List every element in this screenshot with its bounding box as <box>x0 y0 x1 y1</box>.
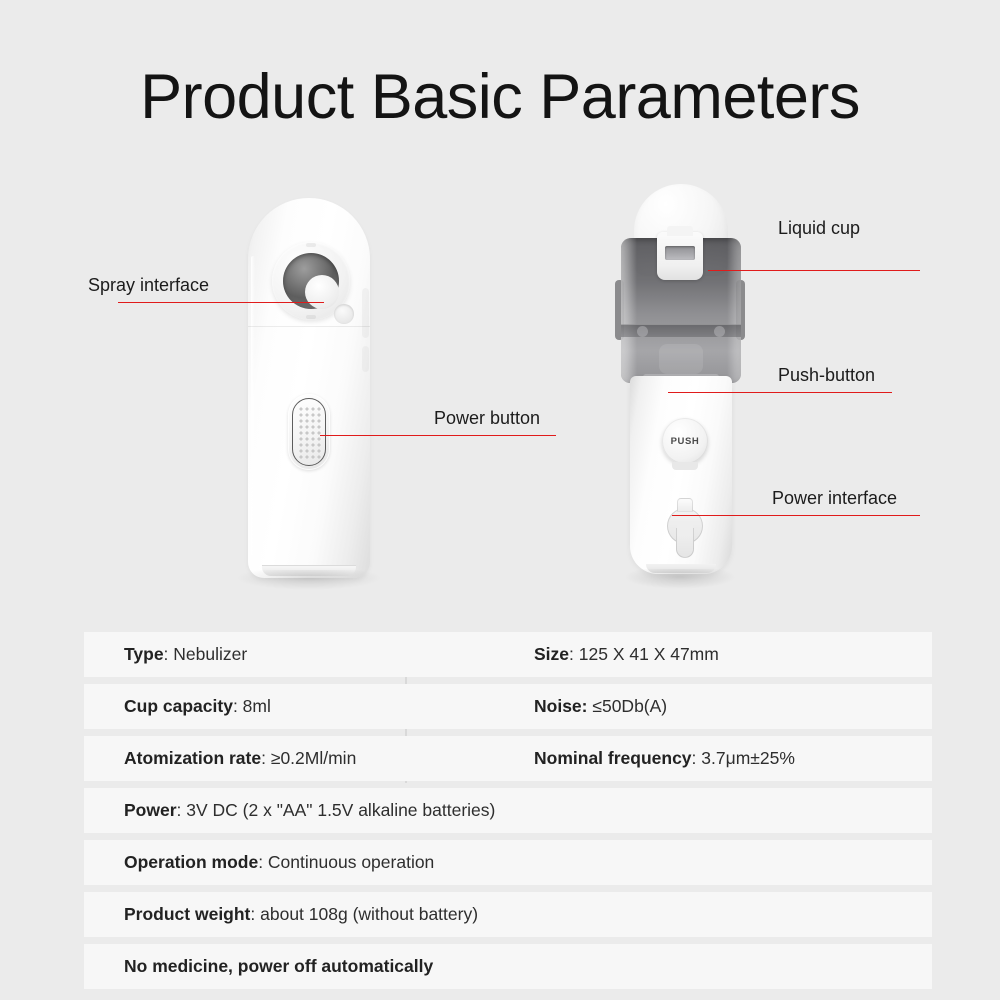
power-port-tip <box>677 498 693 512</box>
cup-latch <box>657 232 703 280</box>
callout-label-power-button: Power button <box>434 408 540 429</box>
spec-cell: No medicine, power off automatically <box>84 956 932 977</box>
spec-cell: Noise: ≤50Db(A) <box>490 696 932 717</box>
callout-line-power-interface <box>672 515 920 516</box>
spec-value: 3V DC (2 x "AA" 1.5V alkaline batteries) <box>186 800 495 820</box>
table-row: No medicine, power off automatically <box>84 944 932 989</box>
spec-key: Atomization rate <box>124 748 261 768</box>
latch-slot <box>665 246 695 260</box>
nozzle-center <box>334 304 354 324</box>
spec-cell: Atomization rate: ≥0.2Ml/min <box>84 748 490 769</box>
nozzle-ring-light <box>305 275 339 309</box>
callout-line-spray-interface <box>118 302 324 303</box>
spec-value: Continuous operation <box>268 852 434 872</box>
callout-label-push-button: Push-button <box>778 365 875 386</box>
spec-sep: : <box>258 852 268 872</box>
callout-line-power-button <box>320 435 556 436</box>
push-button-control[interactable]: PUSH <box>662 418 708 464</box>
table-row: Type: Nebulizer Size: 125 X 41 X 47mm <box>84 632 932 677</box>
left-edge-highlight <box>251 256 255 556</box>
right-edge-groove <box>362 288 369 338</box>
callout-line-liquid-cup <box>708 270 920 271</box>
table-row: Product weight: about 108g (without batt… <box>84 892 932 937</box>
push-button-label: PUSH <box>671 436 700 447</box>
spec-cell: Nominal frequency: 3.7μm±25% <box>490 748 932 769</box>
table-row: Operation mode: Continuous operation <box>84 840 932 885</box>
spec-value: Nebulizer <box>173 644 247 664</box>
table-row: Power: 3V DC (2 x "AA" 1.5V alkaline bat… <box>84 788 932 833</box>
spec-key: Type <box>124 644 164 664</box>
spec-sep: : <box>233 696 243 716</box>
power-interface-port <box>663 502 707 560</box>
callout-label-spray-interface: Spray interface <box>88 275 209 296</box>
spec-key: No medicine, power off automatically <box>124 956 433 976</box>
spec-cell: Size: 125 X 41 X 47mm <box>490 644 932 665</box>
latch-tab <box>667 226 693 236</box>
cup-knob-right <box>714 326 725 337</box>
table-row: Cup capacity: 8ml Noise: ≤50Db(A) <box>84 684 932 729</box>
nozzle-ring-dark <box>283 253 339 309</box>
power-port-stem-fill <box>677 524 693 536</box>
device-body: PUSH <box>630 376 732 574</box>
spec-sep: : <box>569 644 579 664</box>
nebulizer-front-view <box>248 198 370 578</box>
spec-cell: Type: Nebulizer <box>84 644 490 665</box>
body-seam <box>248 326 370 327</box>
spec-value: ≤50Db(A) <box>592 696 667 716</box>
spec-value: 3.7μm±25% <box>701 748 795 768</box>
device-shadow <box>236 570 382 590</box>
spec-key: Power <box>124 800 177 820</box>
nebulizer-side-view: PUSH <box>612 184 748 579</box>
product-illustration-stage: PUSH Spray interface Power button <box>0 170 1000 620</box>
nozzle-notch-bottom <box>306 315 316 319</box>
spec-sep: : <box>250 904 260 924</box>
cup-knob-left <box>637 326 648 337</box>
spec-sep: : <box>692 748 702 768</box>
cup-gloss-right <box>727 238 741 383</box>
nozzle-notch-top <box>306 243 316 247</box>
spray-nozzle-icon <box>272 242 350 320</box>
callout-line-push-button <box>668 392 892 393</box>
cup-gloss-left <box>621 238 637 383</box>
cup-inner-part <box>659 344 703 374</box>
push-button-shaft <box>672 462 698 470</box>
spec-key: Product weight <box>124 904 250 924</box>
power-button-control[interactable] <box>288 394 330 470</box>
spec-key: Operation mode <box>124 852 258 872</box>
page-title: Product Basic Parameters <box>0 66 1000 129</box>
spec-table: Type: Nebulizer Size: 125 X 41 X 47mm Cu… <box>84 632 932 989</box>
spec-key: Cup capacity <box>124 696 233 716</box>
spec-sep: : <box>261 748 271 768</box>
spec-cell: Cup capacity: 8ml <box>84 696 490 717</box>
product-spec-page: Product Basic Parameters <box>0 0 1000 1000</box>
spec-key: Size <box>534 644 569 664</box>
callout-label-power-interface: Power interface <box>772 488 897 509</box>
spec-key: Nominal frequency <box>534 748 692 768</box>
spec-value: 125 X 41 X 47mm <box>579 644 719 664</box>
spec-cell: Operation mode: Continuous operation <box>84 852 932 873</box>
spec-value: about 108g (without battery) <box>260 904 478 924</box>
table-row: Atomization rate: ≥0.2Ml/min Nominal fre… <box>84 736 932 781</box>
spec-cell: Power: 3V DC (2 x "AA" 1.5V alkaline bat… <box>84 800 932 821</box>
right-edge-groove-lower <box>362 346 369 372</box>
spec-key: Noise: <box>534 696 587 716</box>
device-shadow <box>624 569 736 589</box>
power-button-texture <box>297 405 321 459</box>
spec-sep: : <box>164 644 174 664</box>
spec-value: 8ml <box>243 696 271 716</box>
spec-value: ≥0.2Ml/min <box>271 748 356 768</box>
spec-sep: : <box>177 800 187 820</box>
callout-label-liquid-cup: Liquid cup <box>778 218 860 239</box>
spec-cell: Product weight: about 108g (without batt… <box>84 904 932 925</box>
